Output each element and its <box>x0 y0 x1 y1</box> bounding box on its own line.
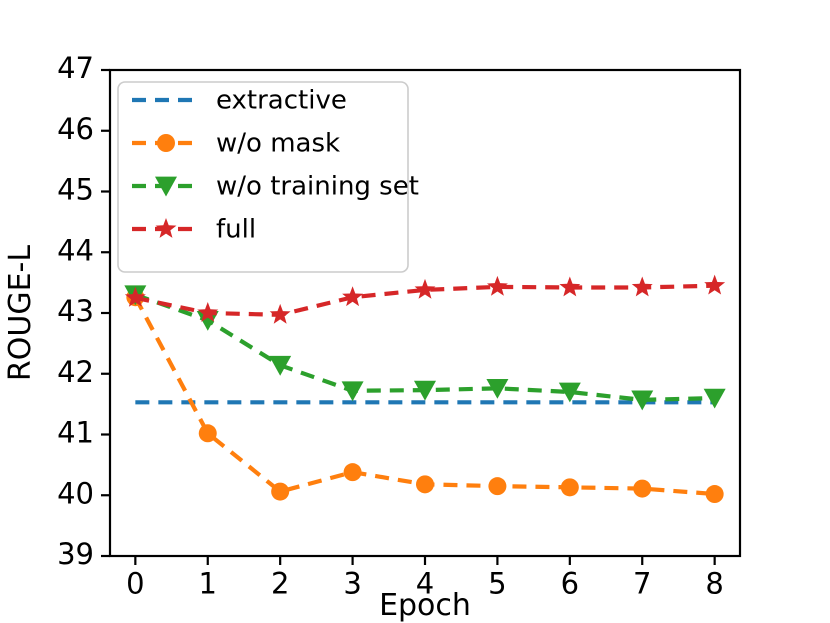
x-tick-label: 6 <box>561 567 579 601</box>
x-axis-title: Epoch <box>379 588 471 623</box>
legend-label[interactable]: w/o mask <box>216 129 340 159</box>
data-point-marker-circle <box>344 463 362 481</box>
data-point-marker-circle <box>633 480 651 498</box>
x-tick-label: 2 <box>271 567 289 601</box>
legend-label[interactable]: w/o training set <box>216 172 419 202</box>
y-tick-label: 39 <box>57 537 94 571</box>
y-tick-label: 46 <box>57 112 94 146</box>
x-tick-label: 3 <box>343 567 361 601</box>
y-axis-title: ROUGE-L <box>3 245 38 381</box>
x-tick-label: 7 <box>633 567 651 601</box>
data-point-marker-star <box>559 276 580 296</box>
legend-swatch-marker <box>157 134 175 152</box>
data-point-marker-triangle <box>342 381 364 401</box>
x-tick-label: 1 <box>199 567 217 601</box>
y-tick-label: 41 <box>57 416 94 450</box>
y-tick-label: 42 <box>57 355 94 389</box>
x-tick-label: 0 <box>126 567 144 601</box>
data-point-marker-star <box>415 279 436 299</box>
data-point-marker-circle <box>416 475 434 493</box>
y-tick-label: 40 <box>57 476 94 510</box>
y-axis-ticks: 394041424344454647 <box>57 51 110 571</box>
data-point-marker-star <box>632 276 653 296</box>
data-point-marker-star <box>270 304 291 324</box>
data-point-marker-circle <box>199 424 217 442</box>
legend-label[interactable]: full <box>216 215 256 245</box>
x-tick-label: 5 <box>488 567 506 601</box>
data-point-marker-triangle <box>704 389 726 409</box>
x-tick-label: 8 <box>705 567 723 601</box>
data-point-marker-star <box>487 276 508 296</box>
series-w-o-training-set <box>124 285 725 410</box>
chart-legend: extractivew/o maskw/o training setfull <box>118 82 419 272</box>
chart-figure: 394041424344454647 012345678 Epoch ROUGE… <box>0 0 830 623</box>
data-point-marker-circle <box>271 483 289 501</box>
data-point-marker-circle <box>561 478 579 496</box>
data-point-marker-circle <box>706 485 724 503</box>
data-point-marker-star <box>342 286 363 306</box>
legend-label[interactable]: extractive <box>216 86 347 116</box>
y-tick-label: 47 <box>57 51 94 85</box>
data-series-group <box>124 275 725 503</box>
y-tick-label: 45 <box>57 173 94 207</box>
data-point-marker-star <box>704 275 725 295</box>
data-point-marker-circle <box>488 477 506 495</box>
rouge-l-line-chart: 394041424344454647 012345678 Epoch ROUGE… <box>0 0 830 623</box>
y-tick-label: 44 <box>57 233 94 267</box>
y-tick-label: 43 <box>57 294 94 328</box>
